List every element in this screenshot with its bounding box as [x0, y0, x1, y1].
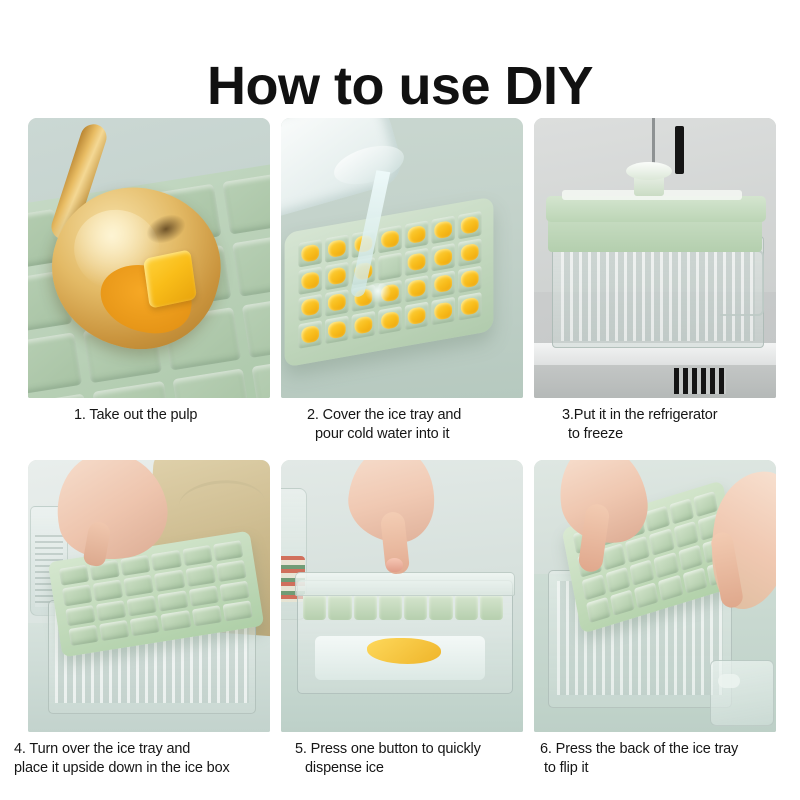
- tray-cell: [404, 594, 427, 620]
- step-caption-3: 3.Put it in the refrigerator to freeze: [534, 406, 776, 445]
- steps-row-top: 1. Take out the pulp: [28, 118, 776, 458]
- box-lid-icon: [710, 660, 774, 726]
- step-card-3: 3.Put it in the refrigerator to freeze: [534, 118, 776, 458]
- tray-cell: [172, 368, 251, 398]
- tray-cell: [65, 604, 96, 625]
- tray-cell: [405, 220, 429, 248]
- tray-cell: [192, 605, 223, 626]
- tray-cell: [328, 594, 351, 620]
- step-caption-4: 4. Turn over the ice tray and place it u…: [14, 740, 270, 779]
- step-image-6: [534, 460, 776, 732]
- tray-cell: [182, 545, 213, 566]
- step-caption-1: 1. Take out the pulp: [28, 406, 270, 425]
- tray-cell: [455, 594, 478, 620]
- tray-cell: [458, 211, 482, 239]
- step-caption-6: 6. Press the back of the ice tray to fli…: [534, 740, 776, 779]
- tray-cell: [630, 559, 655, 585]
- tray-cell: [458, 238, 482, 266]
- tray-cell: [68, 624, 99, 645]
- refrigerator-vent-icon: [674, 368, 726, 394]
- tray-cell: [127, 595, 158, 616]
- step-card-4: 4. Turn over the ice tray and place it u…: [28, 460, 270, 800]
- tray-cell: [405, 275, 429, 303]
- tray-cell: [625, 536, 650, 562]
- tray-cell: [405, 302, 429, 330]
- water-splash: [365, 283, 391, 303]
- tray-cell: [678, 544, 703, 570]
- tray-cell: [645, 506, 670, 532]
- caption-line: 5. Press one button to quickly: [295, 740, 523, 759]
- step-card-5: 5. Press one button to quickly dispense …: [281, 460, 523, 800]
- tray-cell: [606, 566, 631, 592]
- tray-cell: [151, 550, 182, 571]
- step-image-3: [534, 118, 776, 398]
- step-caption-2: 2. Cover the ice tray and pour cold wate…: [281, 406, 523, 445]
- tray-cell: [610, 589, 635, 615]
- tray-cells: [303, 594, 503, 620]
- tray-cell: [298, 320, 322, 348]
- caption-line: 2. Cover the ice tray and: [307, 406, 523, 425]
- apron-strap: [177, 478, 266, 531]
- tray-cell: [59, 564, 90, 585]
- tray-cell: [431, 216, 455, 244]
- tray-cell: [601, 543, 626, 569]
- tray-cell: [378, 306, 402, 334]
- tray-cell: [232, 232, 270, 296]
- refrigerator-seal: [675, 126, 684, 174]
- caption-line: 3.Put it in the refrigerator: [562, 406, 776, 425]
- tray-cell: [93, 580, 124, 601]
- tray-cell: [673, 521, 698, 547]
- tray-cell: [480, 594, 503, 620]
- box-handle: [720, 250, 764, 316]
- caption-line: to freeze: [562, 425, 776, 444]
- tray-cell: [96, 600, 127, 621]
- tray-cell: [219, 580, 250, 601]
- tray-cell: [298, 239, 322, 267]
- tray-cell: [669, 498, 694, 524]
- tray-cell: [216, 560, 247, 581]
- tray-cell: [458, 265, 482, 293]
- tray-cell: [222, 600, 253, 621]
- tray-cell: [130, 615, 161, 636]
- steps-row-bottom: 4. Turn over the ice tray and place it u…: [28, 460, 776, 800]
- caption-line: dispense ice: [295, 759, 523, 778]
- tray-cell: [431, 297, 455, 325]
- tray-cell: [242, 294, 270, 358]
- page-title: How to use DIY: [0, 58, 800, 115]
- box-lid-icon: [295, 572, 515, 596]
- tray-cell: [682, 567, 707, 593]
- tray-cell: [429, 594, 452, 620]
- tray-cell: [352, 311, 376, 339]
- tray-cell: [634, 582, 659, 608]
- tray-cell: [213, 540, 244, 561]
- fingertip-icon: [386, 558, 403, 572]
- lid-tab: [718, 674, 740, 688]
- caption-line: 1. Take out the pulp: [74, 406, 270, 425]
- tray-cell: [99, 620, 130, 641]
- tray-cell: [378, 225, 402, 253]
- tray-cell: [325, 289, 349, 317]
- caption-line: to flip it: [540, 759, 776, 778]
- step-image-5: [281, 460, 523, 732]
- tray-cell: [378, 252, 402, 280]
- tray-cells: [298, 211, 481, 349]
- step-card-1: 1. Take out the pulp: [28, 118, 270, 458]
- step-image-2: [281, 118, 523, 398]
- refrigerator-lower-compartment: [534, 365, 776, 398]
- step-card-2: 2. Cover the ice tray and pour cold wate…: [281, 118, 523, 458]
- caption-line: place it upside down in the ice box: [14, 759, 270, 778]
- tray-cell: [405, 247, 429, 275]
- tray-cell: [298, 266, 322, 294]
- tray-cell: [252, 355, 270, 398]
- press-button-icon: [626, 162, 672, 180]
- tray-cell: [586, 597, 611, 623]
- mango-pulp-cube-icon: [143, 249, 197, 309]
- tray-cell: [582, 574, 607, 600]
- tray-cell: [658, 575, 683, 601]
- tray-cell: [154, 570, 185, 591]
- step-image-4: [28, 460, 270, 732]
- tray-cell: [693, 491, 718, 517]
- tray-cell: [222, 171, 270, 235]
- caption-line: pour cold water into it: [307, 425, 523, 444]
- caption-line: 6. Press the back of the ice tray: [540, 740, 776, 759]
- tray-cell: [654, 552, 679, 578]
- tray-cell: [161, 610, 192, 631]
- tray-cell: [185, 565, 216, 586]
- tray-cell: [124, 575, 155, 596]
- caption-line: 4. Turn over the ice tray and: [14, 740, 270, 759]
- step-card-6: 6. Press the back of the ice tray to fli…: [534, 460, 776, 800]
- tray-cell: [158, 590, 189, 611]
- tray-cell: [458, 292, 482, 320]
- tray-cell: [303, 594, 326, 620]
- tray-cell: [325, 234, 349, 262]
- tray-cell: [354, 594, 377, 620]
- tray-cell: [188, 585, 219, 606]
- tray-cell: [325, 261, 349, 289]
- tray-cell: [325, 316, 349, 344]
- tray-cell: [28, 393, 92, 398]
- tray-cell: [379, 594, 402, 620]
- tray-cell: [92, 381, 171, 398]
- tray-cell: [431, 243, 455, 271]
- steps-grid: 1. Take out the pulp: [28, 118, 776, 800]
- step-image-1: [28, 118, 270, 398]
- step-caption-5: 5. Press one button to quickly dispense …: [281, 740, 523, 779]
- tray-cell: [62, 584, 93, 605]
- tray-cell: [431, 270, 455, 298]
- tray-cell: [649, 529, 674, 555]
- tray-cell: [28, 332, 82, 396]
- tray-cell: [298, 293, 322, 321]
